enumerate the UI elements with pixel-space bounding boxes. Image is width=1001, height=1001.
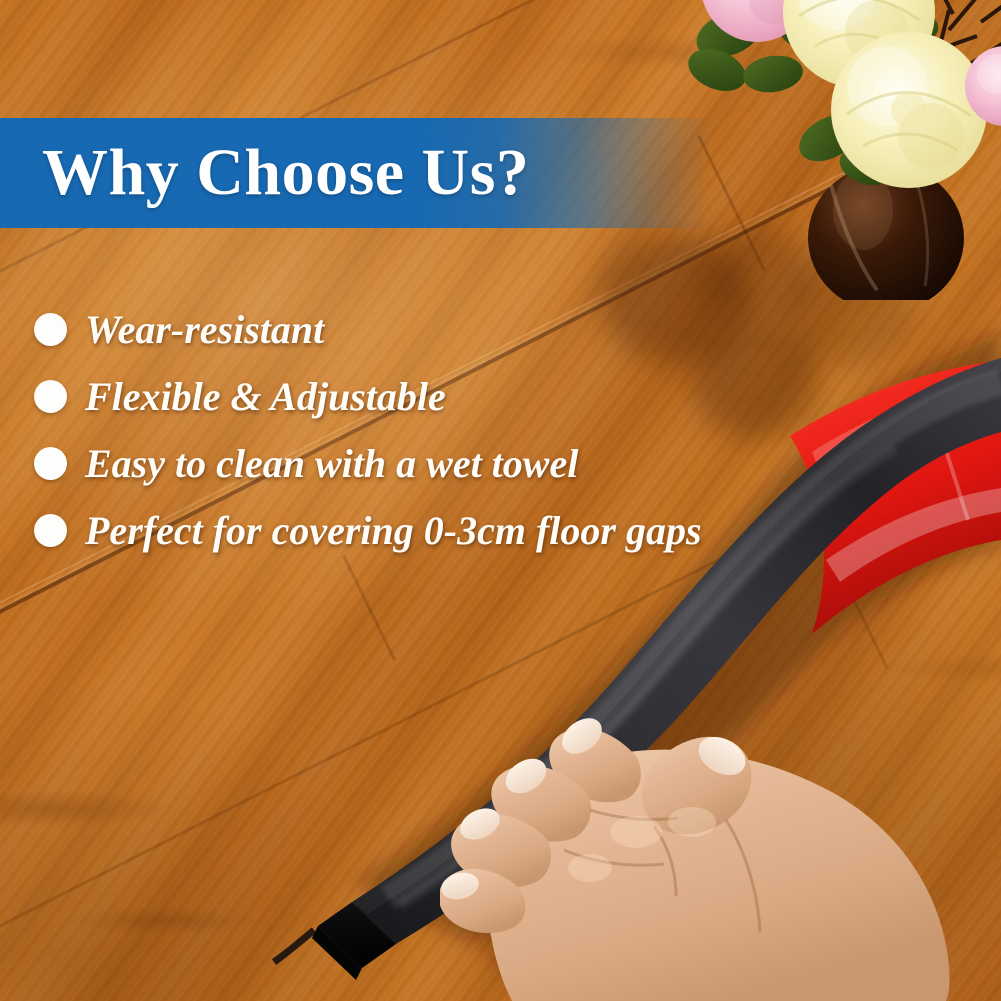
feature-label: Easy to clean with a wet towel	[85, 444, 578, 484]
feature-list: Wear-resistant Flexible & Adjustable Eas…	[0, 296, 760, 564]
bullet-circle-icon	[34, 313, 67, 346]
product-marketing-image: Why Choose Us? Wear-resistant Flexible &…	[0, 0, 1001, 1001]
strip-edge-line	[274, 930, 314, 962]
list-item: Wear-resistant	[0, 296, 760, 363]
list-item: Perfect for covering 0-3cm floor gaps	[0, 497, 760, 564]
hand-pressing-strip	[440, 700, 1001, 1001]
feature-label: Perfect for covering 0-3cm floor gaps	[85, 511, 702, 551]
feature-label: Wear-resistant	[85, 310, 324, 350]
why-choose-us-banner: Why Choose Us?	[0, 118, 712, 228]
list-item: Easy to clean with a wet towel	[0, 430, 760, 497]
hand-svg	[440, 700, 1001, 1001]
list-item: Flexible & Adjustable	[0, 363, 760, 430]
feature-label: Flexible & Adjustable	[85, 377, 446, 417]
bullet-circle-icon	[34, 447, 67, 480]
page-title: Why Choose Us?	[0, 140, 529, 206]
bullet-circle-icon	[34, 514, 67, 547]
bullet-circle-icon	[34, 380, 67, 413]
